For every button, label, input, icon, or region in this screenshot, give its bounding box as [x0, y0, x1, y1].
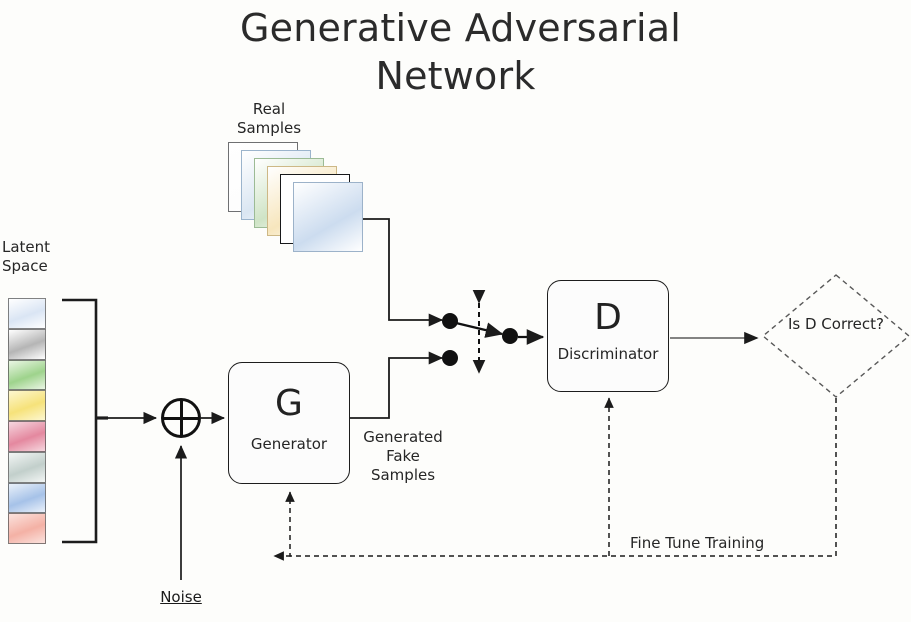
junction-dot-fake: [442, 350, 458, 366]
real-sample-card: [293, 182, 363, 252]
junction-dot-real: [442, 313, 458, 329]
junction-dot-selected: [502, 328, 518, 344]
wire-generator-to-junction: [350, 358, 442, 418]
connector-layer: [0, 0, 911, 622]
diagram-canvas: Generative Adversarial Network Latent Sp…: [0, 0, 911, 622]
wire-fine-tune-feedback: [274, 398, 836, 556]
